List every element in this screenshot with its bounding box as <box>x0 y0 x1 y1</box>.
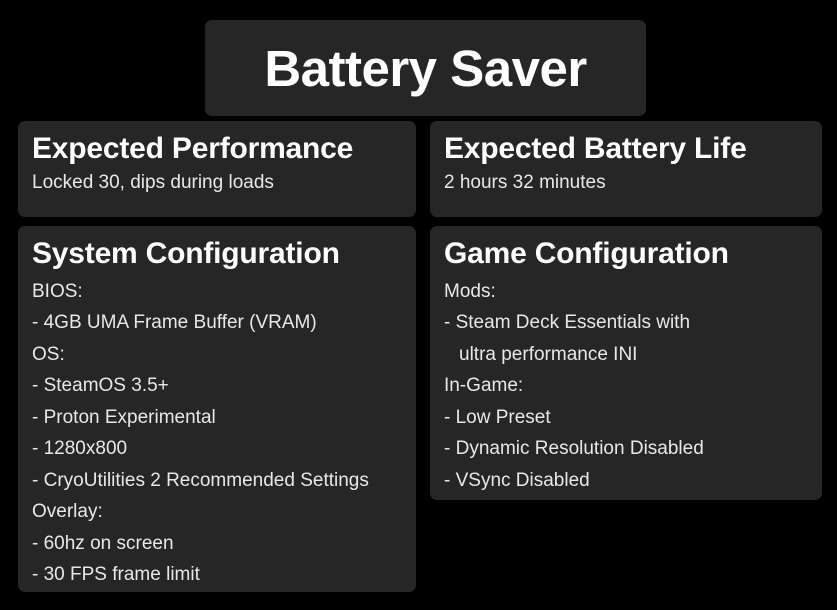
spec-line: - 1280x800 <box>32 433 402 465</box>
spec-line: - Proton Experimental <box>32 402 402 434</box>
page-title: Battery Saver <box>264 43 586 94</box>
system-configuration-list: BIOS:- 4GB UMA Frame Buffer (VRAM)OS:- S… <box>32 276 402 591</box>
spec-line: - VSync Disabled <box>444 465 808 497</box>
panel-game-configuration-heading: Game Configuration <box>444 236 808 273</box>
spec-line: - CryoUtilities 2 Recommended Settings <box>32 465 402 497</box>
spec-line: - 4GB UMA Frame Buffer (VRAM) <box>32 307 402 339</box>
spec-line: In-Game: <box>444 370 808 402</box>
panel-system-configuration-heading: System Configuration <box>32 236 402 273</box>
panel-game-configuration: Game Configuration Mods:- Steam Deck Ess… <box>430 226 822 500</box>
panel-system-configuration: System Configuration BIOS:- 4GB UMA Fram… <box>18 226 416 592</box>
spec-line: - 60hz on screen <box>32 528 402 560</box>
card-expected-battery-life-value: 2 hours 32 minutes <box>444 170 808 196</box>
card-expected-performance-heading: Expected Performance <box>32 131 402 168</box>
card-expected-battery-life: Expected Battery Life 2 hours 32 minutes <box>430 121 822 217</box>
spec-line: - SteamOS 3.5+ <box>32 370 402 402</box>
spec-line: - Low Preset <box>444 402 808 434</box>
spec-line: ultra performance INI <box>444 339 808 371</box>
spec-line: Mods: <box>444 276 808 308</box>
spec-line: BIOS: <box>32 276 402 308</box>
game-configuration-list: Mods:- Steam Deck Essentials withultra p… <box>444 276 808 497</box>
spec-line: - Dynamic Resolution Disabled <box>444 433 808 465</box>
spec-line: - Steam Deck Essentials with <box>444 307 808 339</box>
spec-line: Overlay: <box>32 496 402 528</box>
card-expected-performance: Expected Performance Locked 30, dips dur… <box>18 121 416 217</box>
spec-line: - 30 FPS frame limit <box>32 559 402 591</box>
page-title-banner: Battery Saver <box>205 20 646 116</box>
card-expected-battery-life-heading: Expected Battery Life <box>444 131 808 168</box>
spec-line: OS: <box>32 339 402 371</box>
card-expected-performance-value: Locked 30, dips during loads <box>32 170 402 196</box>
